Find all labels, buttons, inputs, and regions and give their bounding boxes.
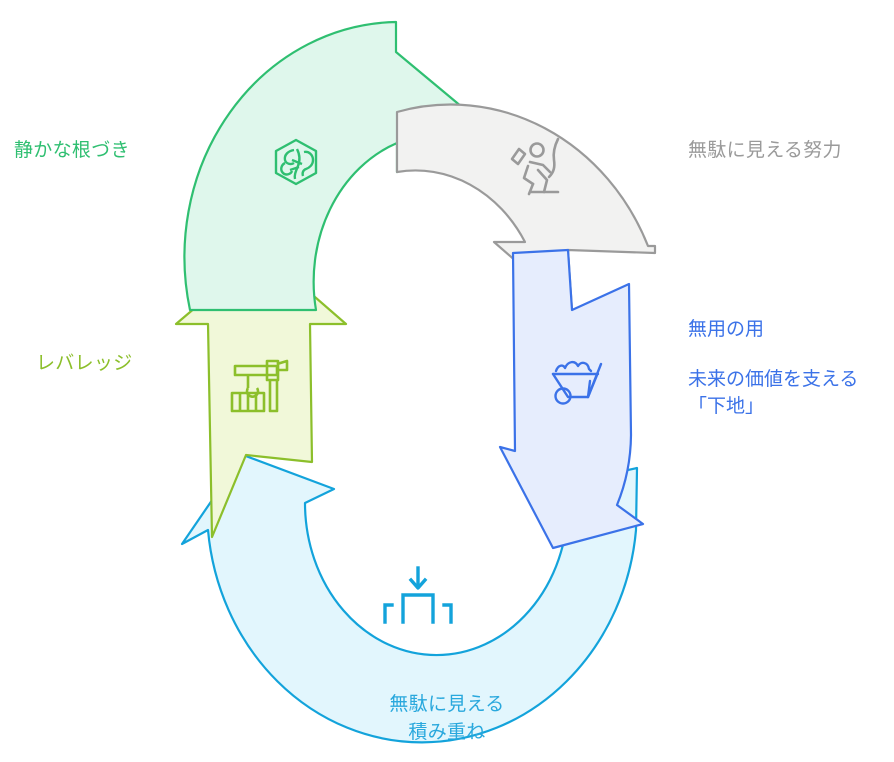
label-use-of-the-useless-group: 無用の用 未来の価値を支える 「下地」 [688, 316, 894, 421]
label-quiet-rooting: 静かな根づき [14, 137, 254, 165]
foundation-stack-icon [385, 568, 451, 622]
label-use-of-the-useless-subtitle: 未来の価値を支える 「下地」 [688, 366, 894, 421]
label-accumulation: 無駄に見える 積み重ね [297, 691, 597, 746]
diagram-canvas: 静かな根づき レバレッジ 無駄に見える努力 無用の用 未来の価値を支える 「下地… [0, 0, 894, 762]
label-leverage: レバレッジ [36, 350, 276, 378]
label-use-of-the-useless-title: 無用の用 [688, 316, 894, 344]
label-wasted-looking-effort: 無駄に見える努力 [688, 137, 894, 165]
